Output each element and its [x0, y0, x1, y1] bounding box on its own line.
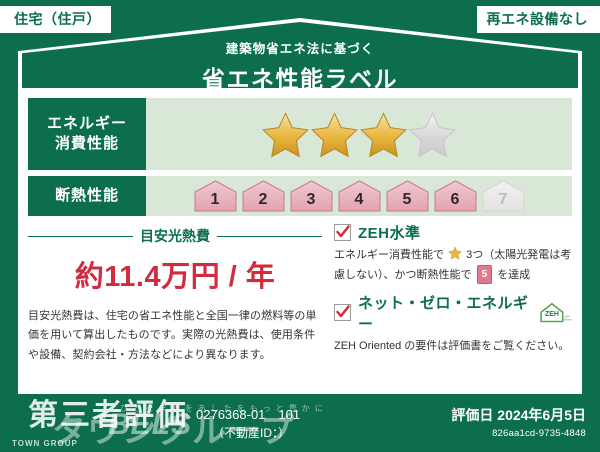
- cost-note: 目安光熱費は、住宅の省エネ性能と全国一律の燃料等の単価を用いて算出したものです。…: [28, 307, 322, 365]
- net-zero-desc: ZEH Oriented の要件は評価書をご覧ください。: [334, 337, 572, 356]
- rule-left: [28, 236, 133, 237]
- energy-label-line1: エネルギー: [47, 114, 127, 134]
- star-filled-icon: [261, 111, 310, 158]
- header: 建築物省エネ法に基づく 省エネ性能ラベル: [0, 38, 600, 94]
- footer-evaluation-date: 評価日 2024年6月5日 826aa1cd-9735-4848: [451, 405, 586, 439]
- insulation-level-7: 7: [481, 180, 526, 212]
- zeh-desc-pre: エネルギー消費性能で: [334, 249, 444, 261]
- star-filled-icon: [310, 111, 359, 158]
- insulation-level-2: 2: [241, 180, 286, 212]
- insulation-level-6: 6: [433, 180, 478, 212]
- check-icon: [336, 305, 350, 319]
- check-icon: [336, 225, 350, 239]
- star-icon: [448, 246, 462, 260]
- energy-label-card: 住宅（住戸） 再エネ設備なし 建築物省エネ法に基づく 省エネ性能ラベル エネルギ…: [0, 0, 600, 450]
- insulation-level-number: 2: [259, 191, 268, 212]
- star-rating: [261, 111, 457, 158]
- svg-text:Oriented: Oriented: [563, 319, 572, 322]
- insulation-level-number: 4: [355, 191, 364, 212]
- energy-performance-row: エネルギー 消費性能: [28, 88, 572, 170]
- badge-renewable-equipment: 再エネ設備なし: [477, 6, 600, 33]
- net-zero-energy-block: ネット・ゼロ・エネルギー ZEH ZEH Oriented ZEH Orient…: [334, 292, 572, 356]
- zeh-standard-block: ZEH水準 エネルギー消費性能で 3つ（太陽光発電は考慮しない）、かつ断熱性能で…: [334, 222, 572, 285]
- rule-right: [217, 236, 322, 237]
- insulation-level-4: 4: [337, 180, 382, 212]
- star-empty-icon: [408, 111, 457, 158]
- watermark-third-party: 第三者評価: [28, 390, 188, 434]
- insulation-level-scale: 1234567: [193, 180, 526, 212]
- evaluation-date-text: 評価日 2024年6月5日: [451, 405, 586, 425]
- net-zero-title: ネット・ゼロ・エネルギー: [358, 292, 531, 334]
- zeh-house-logo-icon: ZEH ZEH Oriented: [538, 301, 572, 325]
- insulation-performance-label: 断熱性能: [28, 176, 146, 216]
- body-card: エネルギー 消費性能 断熱性能 1234567 目安光熱費 約11.4万: [18, 88, 582, 394]
- zeh-standard-desc: エネルギー消費性能で 3つ（太陽光発電は考慮しない）、かつ断熱性能で 5 を達成: [334, 246, 572, 285]
- cost-heading: 目安光熱費: [28, 226, 322, 246]
- checkbox-zeh-standard[interactable]: [334, 224, 351, 241]
- insulation-level-number: 5: [403, 191, 412, 212]
- svg-text:ZEH: ZEH: [545, 311, 559, 318]
- watermark-town-group: TOWN GROUP: [12, 439, 78, 448]
- insulation-level-number: 3: [307, 191, 316, 212]
- footer: TOWN GROUP タウングループ ひとをまちをあしたをもっと豊かに BELS…: [0, 394, 600, 450]
- insulation-level-number: 7: [499, 191, 508, 212]
- zeh-column: ZEH水準 エネルギー消費性能で 3つ（太陽光発電は考慮しない）、かつ断熱性能で…: [328, 222, 572, 365]
- zeh-desc-post: を達成: [497, 269, 530, 281]
- watermark-bels: BELS: [108, 408, 192, 442]
- cost-value: 約11.4万円 / 年: [28, 253, 322, 295]
- footer-id-sublabel: （不動産ID：）: [196, 425, 300, 442]
- cost-heading-text: 目安光熱費: [140, 226, 210, 246]
- energy-performance-value: [146, 98, 572, 170]
- insulation-level-number: 6: [451, 191, 460, 212]
- zeh-standard-title-row: ZEH水準: [334, 222, 572, 243]
- zeh-standard-title: ZEH水準: [358, 222, 421, 243]
- insulation-level-1: 1: [193, 180, 238, 212]
- insulation-level-number: 1: [211, 191, 220, 212]
- evaluation-code: 826aa1cd-9735-4848: [451, 428, 586, 439]
- insulation-performance-value: 1234567: [146, 176, 572, 216]
- footer-id-value: 0276368-01 101: [196, 407, 300, 422]
- insulation-performance-row: 断熱性能 1234567: [28, 170, 572, 216]
- page-title: 省エネ性能ラベル: [0, 60, 600, 94]
- insulation-level-5: 5: [385, 180, 430, 212]
- energy-performance-label: エネルギー 消費性能: [28, 98, 146, 170]
- badge-building-type: 住宅（住戸）: [0, 6, 111, 33]
- header-subtitle: 建築物省エネ法に基づく: [0, 38, 600, 57]
- cost-column: 目安光熱費 約11.4万円 / 年 目安光熱費は、住宅の省エネ性能と全国一律の燃…: [28, 222, 328, 365]
- insulation-level-3: 3: [289, 180, 334, 212]
- lower-section: 目安光熱費 約11.4万円 / 年 目安光熱費は、住宅の省エネ性能と全国一律の燃…: [28, 222, 572, 365]
- star-filled-icon: [359, 111, 408, 158]
- footer-property-id: 0276368-01 101 （不動産ID：）: [196, 406, 300, 442]
- net-zero-title-row: ネット・ゼロ・エネルギー ZEH ZEH Oriented: [334, 292, 572, 334]
- energy-label-line2: 消費性能: [55, 134, 119, 154]
- inline-insulation-badge: 5: [477, 265, 493, 284]
- checkbox-net-zero-energy[interactable]: [334, 304, 351, 321]
